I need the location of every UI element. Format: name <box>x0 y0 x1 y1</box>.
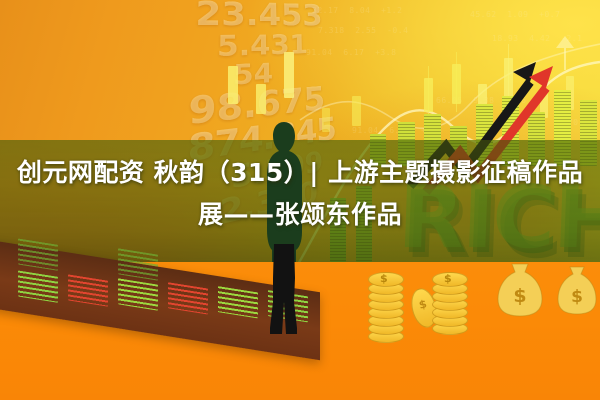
coin-stack: $ <box>368 268 402 340</box>
ticker-cell <box>18 238 58 270</box>
dollar-symbol: $ <box>444 272 452 285</box>
up-arrow-icon <box>552 36 578 70</box>
coin-stack: $ <box>432 262 466 334</box>
dollar-symbol: $ <box>513 285 526 307</box>
ticker-cell <box>18 270 58 302</box>
ticker-cell <box>118 248 158 280</box>
image-canvas: 23.453 5.431 54 98.675 874.345 5.309 2.3… <box>0 0 600 400</box>
ticker-cell <box>218 286 258 318</box>
ticker-cell <box>118 278 158 310</box>
candlestick <box>322 108 330 132</box>
money-bag: $ <box>496 258 544 318</box>
dollar-symbol: $ <box>380 272 388 285</box>
dollar-symbol: $ <box>571 287 583 307</box>
title-line-1: 创元网配资 秋韵（315）| 上游主题摄影征稿作品 <box>0 152 600 194</box>
candlestick <box>256 84 266 114</box>
candlestick <box>228 66 238 104</box>
person-legs <box>262 244 306 336</box>
money-bag: $ <box>556 262 598 316</box>
candlestick <box>352 96 361 126</box>
title-line-2: 展——张颂东作品 <box>0 194 600 236</box>
page-title: 创元网配资 秋韵（315）| 上游主题摄影征稿作品 展——张颂东作品 <box>0 152 600 236</box>
ticker-cell <box>168 282 208 314</box>
ticker-cell <box>68 274 108 306</box>
candlestick <box>284 52 294 98</box>
